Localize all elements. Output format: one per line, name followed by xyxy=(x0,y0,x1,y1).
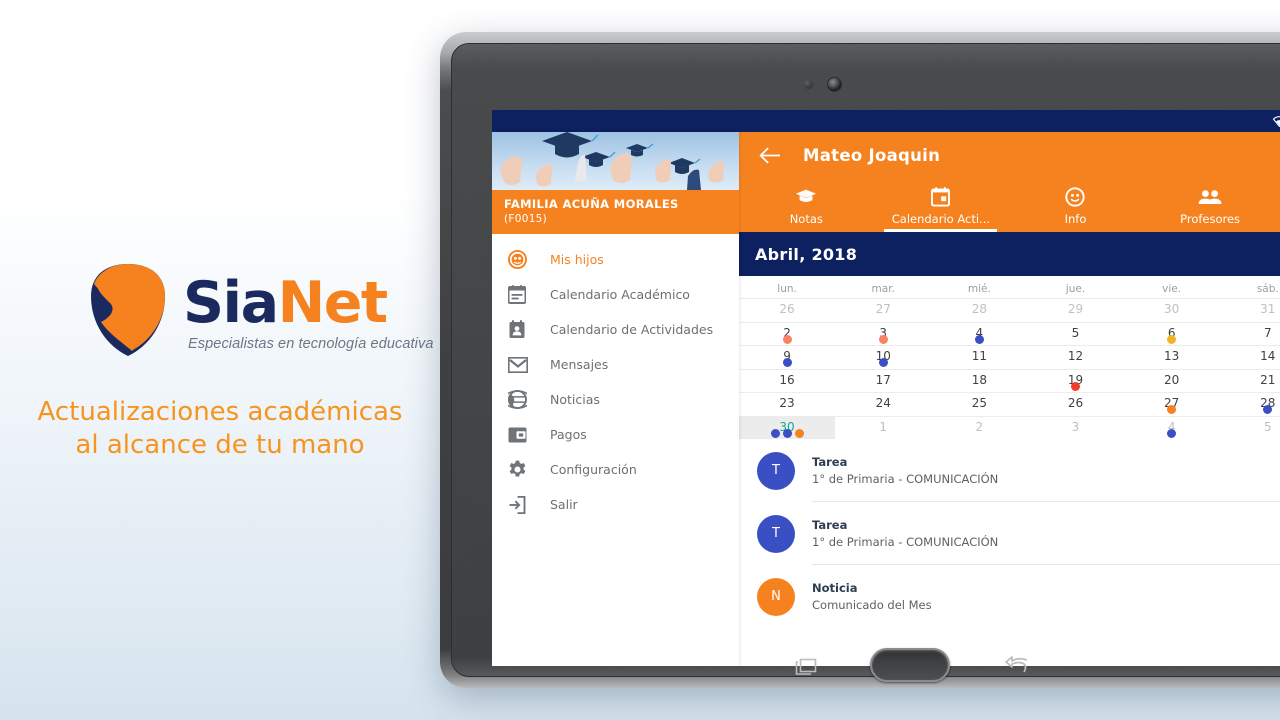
calendar-weekday: lun. xyxy=(739,276,835,298)
sidebar-label: Calendario Académico xyxy=(550,287,690,302)
device-screen: 100% 10:41 AM xyxy=(492,110,1280,666)
calendar-day-cell[interactable]: 12 xyxy=(1027,346,1123,369)
sidebar-item-configuracion[interactable]: Configuración xyxy=(492,452,739,487)
calendar-day-number: 5 xyxy=(1264,420,1272,434)
event-list-item[interactable]: TTarea1° de Primaria - COMUNICACIÓN› xyxy=(739,502,1280,565)
tab-calendario-actividades[interactable]: Calendario Acti... xyxy=(874,178,1009,232)
calendar-day-cell[interactable]: 2 xyxy=(931,417,1027,440)
sidebar-item-pagos[interactable]: Pagos xyxy=(492,417,739,452)
calendar-day-number: 12 xyxy=(1068,349,1083,363)
calendar-day-number: 17 xyxy=(876,373,891,387)
recent-apps-icon[interactable] xyxy=(795,656,817,676)
calendar-weekday: vie. xyxy=(1124,276,1220,298)
promo-headline-line1: Actualizaciones académicas xyxy=(0,396,440,429)
sidebar-label: Mis hijos xyxy=(550,252,604,267)
logo-word-net: Net xyxy=(278,270,387,336)
promo-headline-line2: al alcance de tu mano xyxy=(0,429,440,462)
calendar-day-cell[interactable]: 24 xyxy=(835,393,931,416)
navigation-drawer: FAMILIA ACUÑA MORALES (F0015) Mis hijos xyxy=(492,132,739,666)
calendar-weeks: 2627282930311234567891011121314151617181… xyxy=(739,298,1280,439)
calendar-day-cell[interactable]: 21 xyxy=(1220,370,1280,393)
content-pane: Mateo Joaquin Notas xyxy=(739,132,1280,666)
calendar-week-row: 9101112131415 xyxy=(739,345,1280,369)
promo-panel: SiaNet Especialistas en tecnología educa… xyxy=(0,0,440,720)
calendar-event-dots xyxy=(739,358,835,367)
calendar-icon xyxy=(931,186,950,208)
event-list-item[interactable]: TTarea1° de Primaria - COMUNICACIÓN› xyxy=(739,439,1280,502)
calendar-weekday: mié. xyxy=(931,276,1027,298)
calendar-day-number: 20 xyxy=(1164,373,1179,387)
back-nav-icon[interactable] xyxy=(1005,656,1029,676)
calendar-event-dots xyxy=(1124,335,1220,344)
calendar-event-dot xyxy=(1167,429,1176,438)
calendar-day-cell[interactable]: 6 xyxy=(1124,323,1220,346)
calendar-weekday-header: lun.mar.mié.jue.vie.sáb.dom. xyxy=(739,276,1280,298)
calendar-day-cell[interactable]: 30 xyxy=(739,417,835,440)
calendar-day-cell[interactable]: 18 xyxy=(931,370,1027,393)
calendar-day-cell[interactable]: 25 xyxy=(931,393,1027,416)
promo-headline: Actualizaciones académicas al alcance de… xyxy=(0,396,440,462)
calendar-event-dot xyxy=(1263,405,1272,414)
calendar-day-cell[interactable]: 16 xyxy=(739,370,835,393)
calendar-event-dots xyxy=(739,429,835,438)
calendar-event-dots xyxy=(931,335,1027,344)
proximity-sensor-icon xyxy=(804,80,813,89)
month-label: Abril, 2018 xyxy=(755,245,857,264)
calendar-day-number: 21 xyxy=(1260,373,1275,387)
sidebar-label: Configuración xyxy=(550,462,637,477)
calendar-event-dot xyxy=(1167,335,1176,344)
app-bar-top: Mateo Joaquin xyxy=(739,132,1280,178)
drawer-menu-list: Mis hijos Calendario Académico xyxy=(492,234,739,522)
calendar-day-number: 16 xyxy=(779,373,794,387)
calendar-week-row: 30123456 xyxy=(739,416,1280,440)
graduation-cap-icon xyxy=(795,186,817,208)
tablet-device: 100% 10:41 AM xyxy=(440,32,1280,688)
child-face-icon xyxy=(508,248,540,272)
calendar-week-row: 23242526272829 xyxy=(739,392,1280,416)
calendar-weekday: jue. xyxy=(1027,276,1123,298)
calendar-day-cell[interactable]: 4 xyxy=(1124,417,1220,440)
sianet-shield-logo-icon xyxy=(85,262,171,358)
month-calendar: lun.mar.mié.jue.vie.sáb.dom. 26272829303… xyxy=(739,276,1280,439)
wallet-icon xyxy=(508,423,540,447)
calendar-week-row: 16171819202122 xyxy=(739,369,1280,393)
calendar-day-cell[interactable]: 11 xyxy=(931,346,1027,369)
calendar-day-cell[interactable]: 5 xyxy=(1027,323,1123,346)
calendar-day-cell[interactable]: 17 xyxy=(835,370,931,393)
tab-label: Profesores xyxy=(1180,212,1240,226)
tab-label: Calendario Acti... xyxy=(892,212,990,226)
calendar-day-cell[interactable]: 27 xyxy=(835,299,931,322)
calendar-day-number: 5 xyxy=(1072,326,1080,340)
sidebar-label: Calendario de Actividades xyxy=(550,322,713,337)
calendar-week-row: 2345678 xyxy=(739,322,1280,346)
calendar-day-cell[interactable]: 3 xyxy=(1027,417,1123,440)
tab-bar: Notas Calendario Acti... xyxy=(739,178,1280,232)
calendar-day-cell[interactable]: 29 xyxy=(1027,299,1123,322)
sidebar-label: Pagos xyxy=(550,427,587,442)
logo-tagline: Especialistas en tecnología educativa xyxy=(188,336,434,352)
logout-icon xyxy=(508,493,540,517)
calendar-event-dot xyxy=(975,335,984,344)
family-name: FAMILIA ACUÑA MORALES xyxy=(504,197,727,211)
calendar-day-cell[interactable]: 31 xyxy=(1220,299,1280,322)
tab-notas[interactable]: Notas xyxy=(739,178,874,232)
calendar-event-dots xyxy=(1220,405,1280,414)
globe-icon xyxy=(508,388,540,412)
calendar-day-cell[interactable]: 28 xyxy=(931,299,1027,322)
calendar-day-number: 24 xyxy=(876,396,891,410)
avatar: T xyxy=(757,452,795,490)
calendar-day-cell[interactable]: 23 xyxy=(739,393,835,416)
event-list: TTarea1° de Primaria - COMUNICACIÓN›TTar… xyxy=(739,439,1280,628)
calendar-event-dots xyxy=(835,358,931,367)
calendar-day-cell[interactable]: 30 xyxy=(1124,299,1220,322)
tab-label: Info xyxy=(1065,212,1087,226)
calendar-week-row: 2627282930311 xyxy=(739,298,1280,322)
sidebar-item-mis-hijos[interactable]: Mis hijos xyxy=(492,242,739,277)
calendar-day-cell[interactable]: 10 xyxy=(835,346,931,369)
event-subtitle: 1° de Primaria - COMUNICACIÓN xyxy=(812,472,1280,486)
avatar: T xyxy=(757,515,795,553)
app-bar: Mateo Joaquin Notas xyxy=(739,132,1280,232)
calendar-day-cell[interactable]: 2 xyxy=(739,323,835,346)
page-title: Mateo Joaquin xyxy=(803,146,940,165)
tablet-bezel: 100% 10:41 AM xyxy=(451,43,1280,677)
calendar-day-number: 29 xyxy=(1068,302,1083,316)
calendar-day-number: 2 xyxy=(976,420,984,434)
face-info-icon xyxy=(1065,186,1085,208)
family-code: (F0015) xyxy=(504,213,727,225)
calendar-day-number: 13 xyxy=(1164,349,1179,363)
calendar-day-number: 14 xyxy=(1260,349,1275,363)
calendar-event-dots xyxy=(739,335,835,344)
calendar-event-dots xyxy=(1124,405,1220,414)
calendar-weekday: sáb. xyxy=(1220,276,1280,298)
calendar-event-dots xyxy=(835,335,931,344)
page-root: SiaNet Especialistas en tecnología educa… xyxy=(0,0,1280,720)
calendar-day-number: 7 xyxy=(1264,326,1272,340)
calendar-day-cell[interactable]: 19 xyxy=(1027,370,1123,393)
calendar-day-cell[interactable]: 14 xyxy=(1220,346,1280,369)
contact-calendar-icon xyxy=(508,318,540,342)
sidebar-item-noticias[interactable]: Noticias xyxy=(492,382,739,417)
calendar-event-dots xyxy=(1027,382,1123,391)
calendar-day-cell[interactable]: 20 xyxy=(1124,370,1220,393)
tab-label: Notas xyxy=(790,212,823,226)
event-title: Tarea xyxy=(812,455,1280,469)
avatar: N xyxy=(757,578,795,616)
calendar-day-cell[interactable]: 3 xyxy=(835,323,931,346)
sidebar-item-salir[interactable]: Salir xyxy=(492,487,739,522)
calendar-day-number: 23 xyxy=(779,396,794,410)
calendar-day-cell[interactable]: 26 xyxy=(739,299,835,322)
calendar-event-dot xyxy=(783,358,792,367)
event-body: NoticiaComunicado del Mes xyxy=(812,565,1280,628)
calendar-day-number: 30 xyxy=(1164,302,1179,316)
calendar-day-cell[interactable]: 28 xyxy=(1220,393,1280,416)
event-title: Noticia xyxy=(812,581,1280,595)
calendar-day-number: 28 xyxy=(972,302,987,316)
front-camera-icon xyxy=(827,77,842,92)
calendar-event-dot xyxy=(795,429,804,438)
event-title: Tarea xyxy=(812,518,1280,532)
calendar-event-dots xyxy=(1124,429,1220,438)
calendar-day-number: 11 xyxy=(972,349,987,363)
sidebar-label: Mensajes xyxy=(550,357,608,372)
calendar-day-number: 31 xyxy=(1260,302,1275,316)
calendar-day-number: 27 xyxy=(876,302,891,316)
calendar-day-number: 18 xyxy=(972,373,987,387)
calendar-event-dot xyxy=(783,429,792,438)
calendar-day-cell[interactable]: 13 xyxy=(1124,346,1220,369)
calendar-day-number: 26 xyxy=(779,302,794,316)
app-body: FAMILIA ACUÑA MORALES (F0015) Mis hijos xyxy=(492,132,1280,666)
wifi-icon xyxy=(1273,116,1280,127)
logo-word-sia: Sia xyxy=(183,270,278,336)
calendar-event-dot xyxy=(783,335,792,344)
calendar-day-number: 3 xyxy=(1072,420,1080,434)
event-body: Tarea1° de Primaria - COMUNICACIÓN xyxy=(812,502,1280,565)
month-header-bar: Abril, 2018 xyxy=(739,232,1280,276)
calendar-event-dot xyxy=(1167,405,1176,414)
people-icon xyxy=(1198,186,1222,208)
sidebar-item-calendario-academico[interactable]: Calendario Académico xyxy=(492,277,739,312)
family-header: FAMILIA ACUÑA MORALES (F0015) xyxy=(492,190,739,234)
sianet-logo: SiaNet Especialistas en tecnología educa… xyxy=(85,262,375,362)
calendar-day-cell[interactable]: 9 xyxy=(739,346,835,369)
android-status-bar: 100% 10:41 AM xyxy=(492,110,1280,132)
sidebar-label: Salir xyxy=(550,497,578,512)
back-arrow-icon[interactable] xyxy=(757,142,783,168)
event-body: Tarea1° de Primaria - COMUNICACIÓN xyxy=(812,439,1280,502)
calendar-day-cell[interactable]: 26 xyxy=(1027,393,1123,416)
calendar-day-cell[interactable]: 1 xyxy=(835,417,931,440)
home-button[interactable] xyxy=(870,648,950,682)
calendar-day-cell[interactable]: 5 xyxy=(1220,417,1280,440)
event-subtitle: Comunicado del Mes xyxy=(812,598,1280,612)
tab-info[interactable]: Info xyxy=(1008,178,1143,232)
graduation-caps-banner xyxy=(492,132,739,190)
calendar-icon xyxy=(508,283,540,307)
sianet-wordmark: SiaNet xyxy=(183,270,387,336)
calendar-day-cell[interactable]: 7 xyxy=(1220,323,1280,346)
sidebar-item-calendario-actividades[interactable]: Calendario de Actividades xyxy=(492,312,739,347)
calendar-day-number: 25 xyxy=(972,396,987,410)
calendar-event-dot xyxy=(1071,382,1080,391)
sidebar-label: Noticias xyxy=(550,392,600,407)
calendar-day-number: 26 xyxy=(1068,396,1083,410)
envelope-icon xyxy=(508,353,540,377)
calendar-event-dot xyxy=(879,335,888,344)
tab-profesores[interactable]: Profesores xyxy=(1143,178,1278,232)
calendar-event-dot xyxy=(771,429,780,438)
event-list-item[interactable]: NNoticiaComunicado del Mes› xyxy=(739,565,1280,628)
calendar-weekday: mar. xyxy=(835,276,931,298)
calendar-event-dot xyxy=(879,358,888,367)
calendar-day-cell[interactable]: 27 xyxy=(1124,393,1220,416)
calendar-day-number: 1 xyxy=(879,420,887,434)
gear-icon xyxy=(508,458,540,482)
event-subtitle: 1° de Primaria - COMUNICACIÓN xyxy=(812,535,1280,549)
calendar-day-cell[interactable]: 4 xyxy=(931,323,1027,346)
sidebar-item-mensajes[interactable]: Mensajes xyxy=(492,347,739,382)
